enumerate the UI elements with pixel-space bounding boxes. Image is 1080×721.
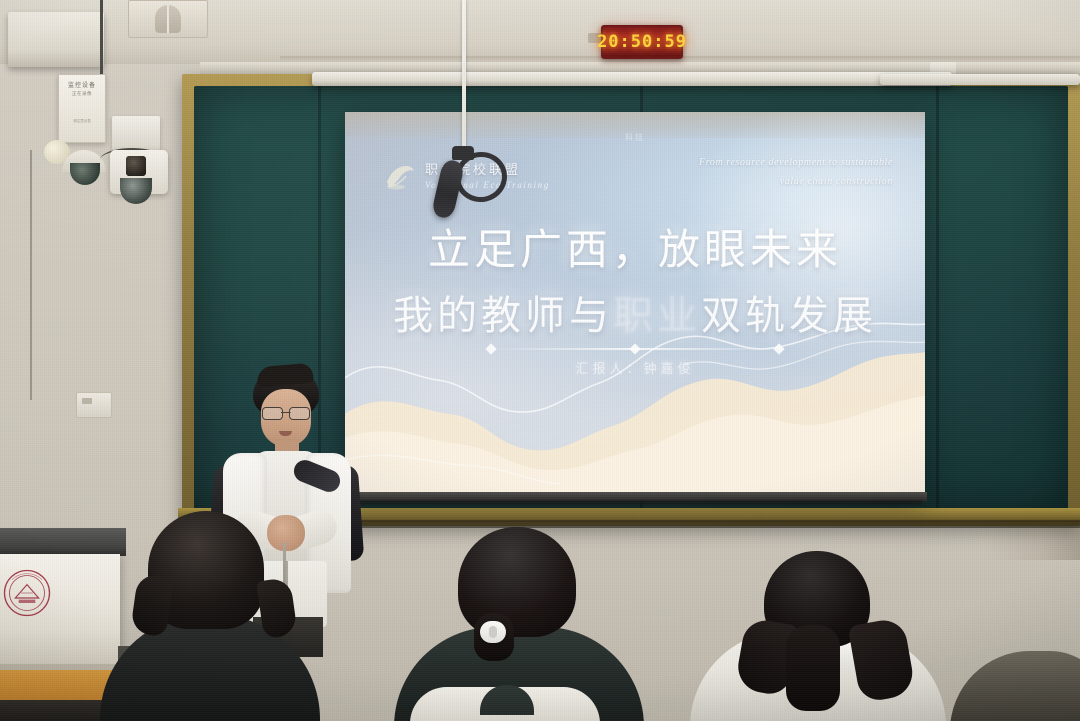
- microphone-mount: [452, 146, 474, 160]
- audience-member-left: [100, 521, 320, 721]
- slide-presenter-name: 钟嘉俊: [644, 361, 695, 376]
- audience-member-far-right: [950, 651, 1080, 721]
- slide-title-block: 立足广西，放眼未来 我的教师与职业双轨发展: [345, 216, 925, 341]
- glasses-lens-right: [289, 407, 310, 420]
- slide-title-line2: 我的教师与职业双轨发展: [345, 283, 925, 341]
- projection-screen: 科技 职业院校联盟 Vocational Eco Training From r…: [345, 112, 925, 494]
- clock-time-display: 20:50:59: [597, 32, 687, 52]
- glasses-lens-left: [262, 407, 283, 420]
- camera-mount-plate: [112, 116, 160, 150]
- audience-member-right: [700, 551, 940, 721]
- audience-center-hair-tie: [480, 621, 506, 643]
- audience-right-hair-center: [786, 625, 840, 711]
- projection-screen-bottom-shadow: [348, 500, 922, 505]
- university-crest-icon: [2, 568, 52, 618]
- wall-thin-cable: [30, 150, 32, 400]
- microphone-cable: [462, 0, 466, 150]
- slide-top-marker: 科技: [625, 132, 645, 143]
- slide-presenter-line: 汇报人：钟嘉俊: [575, 358, 694, 377]
- audience-center-head: [458, 527, 576, 637]
- slide-title-line2-faded: 职业: [613, 293, 701, 339]
- monitoring-notice-sign: 监控设备 正在录像 请注意仪表: [58, 74, 106, 143]
- ptz-camera-lens-icon: [126, 156, 146, 176]
- slide-presenter-label: 汇报人：: [575, 361, 643, 376]
- blackboard-seam-right: [936, 86, 939, 514]
- wave-logo-icon: [383, 160, 417, 194]
- notice-sign-line1: 监控设备: [68, 80, 96, 89]
- slide-title-line2-right: 双轨发展: [701, 293, 877, 339]
- slide-tagline: From resource development to sustainable…: [678, 154, 893, 191]
- notice-sign-line2: 正在录像: [72, 91, 92, 97]
- power-outlet-plate: [76, 392, 112, 418]
- audience-member-center: [400, 531, 640, 721]
- slide-title-line2-left: 我的教师与: [393, 293, 613, 339]
- classroom-chair-back: [410, 687, 600, 721]
- projection-screen-housing: [312, 72, 952, 86]
- led-wall-clock: 20:50:59: [601, 25, 683, 59]
- audience-far-right-torso: [950, 651, 1080, 721]
- wall-vent-panel: [128, 0, 208, 38]
- classroom-photo-scene: 监控设备 正在录像 请注意仪表 20:50:59: [0, 0, 1080, 721]
- equipment-box: [8, 12, 104, 67]
- notice-sign-line3: 请注意仪表: [73, 119, 91, 124]
- slide-divider-rule: [489, 348, 781, 350]
- slide-title-line1: 立足广西，放眼未来: [345, 216, 925, 277]
- projection-screen-housing-right: [880, 74, 1080, 85]
- presenter-glasses-icon: [262, 407, 310, 418]
- equipment-cable: [100, 0, 103, 80]
